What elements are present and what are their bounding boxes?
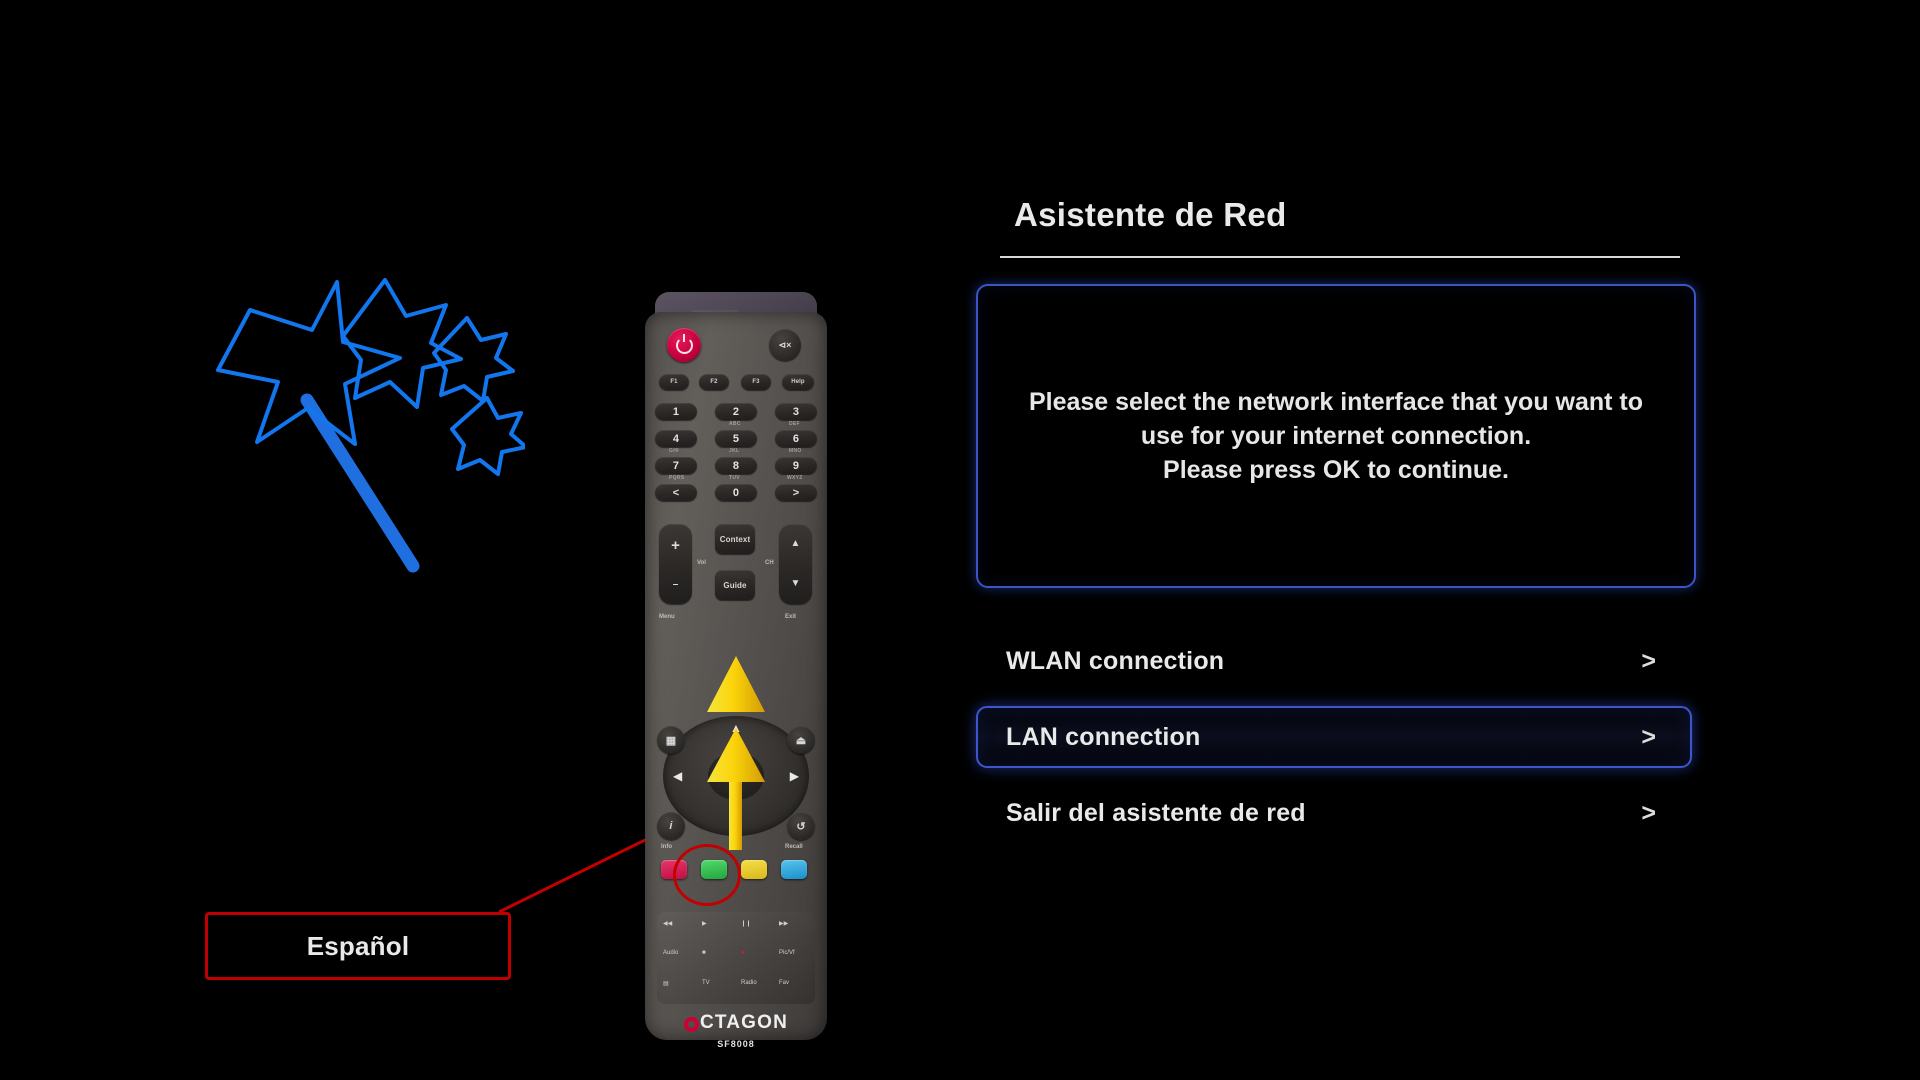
info-icon: i bbox=[669, 820, 672, 832]
remote-control-image: ⊲× F1 F2 F3 Help 1 2 3 ABC DEF bbox=[645, 292, 827, 1040]
remote-rewind-button: ◀◀ bbox=[663, 920, 696, 934]
info-label: Info bbox=[661, 844, 672, 850]
remote-key-0: 0 bbox=[715, 484, 757, 501]
tv-label: TV bbox=[702, 980, 710, 986]
volume-down-icon: – bbox=[673, 580, 679, 590]
remote-color-key-blue bbox=[781, 860, 807, 879]
info-line-1: Please select the network interface that… bbox=[1029, 385, 1643, 419]
context-label: Context bbox=[720, 535, 750, 544]
menu-item-wlan-connection[interactable]: WLAN connection > bbox=[976, 630, 1692, 692]
remote-key-8-sub: TUV bbox=[729, 475, 740, 481]
remote-color-key-red bbox=[661, 860, 687, 879]
remote-key-6-label: 6 bbox=[793, 433, 799, 445]
menu-item-exit-wizard[interactable]: Salir del asistente de red > bbox=[976, 782, 1692, 844]
octagon-logo-icon bbox=[684, 1017, 699, 1032]
menu-item-wlan-label: WLAN connection bbox=[1006, 647, 1224, 676]
remote-key-0-label: 0 bbox=[733, 487, 739, 499]
remote-key-1: 1 bbox=[655, 403, 697, 420]
remote-subtitle-button: ▤ bbox=[663, 980, 696, 994]
remote-key-f3-label: F3 bbox=[752, 379, 759, 385]
dpad-right-icon: ▶ bbox=[790, 770, 799, 782]
chevron-right-icon: > bbox=[1641, 723, 1656, 752]
exit-label: Exit bbox=[785, 614, 796, 620]
radio-label: Radio bbox=[741, 980, 757, 986]
remote-key-9-sub: WXYZ bbox=[787, 475, 803, 481]
remote-key-4: 4 bbox=[655, 430, 697, 447]
brand-text: CTAGON bbox=[700, 1012, 788, 1034]
remote-key-4-label: 4 bbox=[673, 433, 679, 445]
audio-label: Audio bbox=[663, 950, 678, 956]
remote-tv-button: TV bbox=[702, 980, 735, 994]
remote-key-1-label: 1 bbox=[673, 406, 679, 418]
record-icon: ● bbox=[741, 950, 745, 956]
remote-key-2-label: 2 bbox=[733, 406, 739, 418]
stop-icon: ■ bbox=[702, 950, 706, 956]
power-icon bbox=[676, 337, 693, 354]
remote-key-7-label: 7 bbox=[673, 460, 679, 472]
volume-up-icon: + bbox=[671, 538, 680, 553]
remote-radio-button: Radio bbox=[741, 980, 774, 994]
remote-key-5: 5 bbox=[715, 430, 757, 447]
remote-stop-button: ■ bbox=[702, 950, 735, 964]
remote-key-help-label: Help bbox=[791, 379, 804, 385]
magic-wand-icon bbox=[195, 258, 525, 588]
remote-key-9-label: 9 bbox=[793, 460, 799, 472]
dpad-down-icon: ▼ bbox=[730, 818, 742, 830]
remote-key-f2: F2 bbox=[699, 374, 729, 390]
remote-guide-button: Guide bbox=[715, 570, 755, 600]
tv-setup-screen: Español ⊲× F1 F2 F3 bbox=[0, 0, 1920, 1080]
language-callout-label: Español bbox=[307, 931, 410, 962]
remote-fav-button: Fav bbox=[779, 980, 812, 994]
pip-label: Pic/Vf bbox=[779, 950, 795, 956]
play-icon: ▶ bbox=[702, 921, 707, 927]
remote-pip-button: Pic/Vf bbox=[779, 950, 812, 964]
remote-power-button bbox=[667, 328, 701, 362]
channel-down-icon: ▼ bbox=[791, 579, 801, 589]
page-title: Asistente de Red bbox=[1014, 196, 1700, 234]
remote-volume-rocker: + – bbox=[659, 524, 692, 604]
remote-key-3: 3 bbox=[775, 403, 817, 420]
remote-key-5-sub: JKL bbox=[729, 448, 739, 454]
dpad-left-icon: ◀ bbox=[673, 770, 682, 782]
guide-label: Guide bbox=[723, 581, 746, 590]
remote-key-4-sub: GHI bbox=[669, 448, 679, 454]
remote-key-2-sub: ABC bbox=[729, 421, 741, 427]
info-line-3: Please press OK to continue. bbox=[1029, 453, 1643, 487]
remote-key-6: 6 bbox=[775, 430, 817, 447]
remote-key-help: Help bbox=[782, 374, 814, 390]
fav-label: Fav bbox=[779, 980, 789, 986]
channel-label: CH bbox=[765, 560, 774, 566]
remote-recall-button: ↺ bbox=[787, 812, 815, 840]
remote-color-key-yellow bbox=[741, 860, 767, 879]
remote-key-3-sub: DEF bbox=[789, 421, 800, 427]
recall-label: Recall bbox=[785, 844, 803, 850]
remote-key-next: > bbox=[775, 484, 817, 501]
remote-menu-button: ▦ bbox=[657, 726, 685, 754]
menu-item-exit-label: Salir del asistente de red bbox=[1006, 799, 1306, 828]
remote-branding: CTAGON SF8008 bbox=[645, 1012, 827, 1049]
remote-key-6-sub: MNO bbox=[789, 448, 802, 454]
remote-key-2: 2 bbox=[715, 403, 757, 420]
remote-key-7: 7 bbox=[655, 457, 697, 474]
remote-key-9: 9 bbox=[775, 457, 817, 474]
remote-key-prev-label: < bbox=[673, 487, 680, 499]
menu-item-lan-label: LAN connection bbox=[1006, 723, 1200, 752]
volume-label: Vol bbox=[697, 560, 706, 566]
remote-channel-rocker: ▲ ▼ bbox=[779, 524, 812, 604]
chevron-right-icon: > bbox=[1641, 799, 1656, 828]
remote-key-8: 8 bbox=[715, 457, 757, 474]
remote-ok-button bbox=[708, 752, 764, 800]
menu-icon: ▦ bbox=[666, 734, 677, 747]
recall-icon: ↺ bbox=[796, 820, 805, 833]
remote-key-5-label: 5 bbox=[733, 433, 739, 445]
remote-color-key-green bbox=[701, 860, 727, 879]
menu-label: Menu bbox=[659, 614, 675, 620]
remote-body: ⊲× F1 F2 F3 Help 1 2 3 ABC DEF bbox=[645, 312, 827, 1040]
remote-audio-button: Audio bbox=[663, 950, 696, 964]
network-wizard-panel: Asistente de Red Please select the netwo… bbox=[1000, 196, 1700, 858]
language-callout-box: Español bbox=[205, 912, 511, 980]
remote-key-next-label: > bbox=[793, 487, 800, 499]
remote-mute-button: ⊲× bbox=[769, 329, 801, 361]
brand-name: CTAGON bbox=[684, 1012, 788, 1034]
remote-info-button: i bbox=[657, 812, 685, 840]
remote-key-3-label: 3 bbox=[793, 406, 799, 418]
info-message-box: Please select the network interface that… bbox=[976, 284, 1696, 588]
brand-model: SF8008 bbox=[645, 1039, 827, 1049]
remote-key-prev: < bbox=[655, 484, 697, 501]
remote-key-8-label: 8 bbox=[733, 460, 739, 472]
remote-exit-button: ⏏ bbox=[787, 726, 815, 754]
channel-up-icon: ▲ bbox=[791, 539, 801, 549]
remote-key-7-sub: PQRS bbox=[669, 475, 684, 481]
exit-icon: ⏏ bbox=[796, 734, 807, 747]
subtitle-icon: ▤ bbox=[663, 981, 669, 987]
remote-record-button: ● bbox=[741, 950, 774, 964]
remote-key-f1: F1 bbox=[659, 374, 689, 390]
network-interface-menu: WLAN connection > LAN connection > Salir… bbox=[976, 630, 1692, 844]
remote-media-panel: ◀◀ ▶ ❙❙ ▶▶ Audio ■ ● Pic/Vf ▤ bbox=[657, 912, 815, 1004]
remote-key-f3: F3 bbox=[741, 374, 771, 390]
remote-play-button: ▶ bbox=[702, 920, 735, 934]
menu-item-lan-connection[interactable]: LAN connection > bbox=[976, 706, 1692, 768]
pause-icon: ❙❙ bbox=[741, 921, 751, 927]
title-divider bbox=[1000, 256, 1680, 258]
remote-key-f2-label: F2 bbox=[710, 379, 717, 385]
fast-forward-icon: ▶▶ bbox=[779, 921, 788, 927]
rewind-icon: ◀◀ bbox=[663, 921, 672, 927]
info-message-text: Please select the network interface that… bbox=[1005, 385, 1667, 487]
remote-context-button: Context bbox=[715, 524, 755, 554]
remote-pause-button: ❙❙ bbox=[741, 920, 774, 934]
mute-icon: ⊲× bbox=[779, 340, 792, 351]
remote-forward-button: ▶▶ bbox=[779, 920, 812, 934]
chevron-right-icon: > bbox=[1641, 647, 1656, 676]
remote-key-f1-label: F1 bbox=[670, 379, 677, 385]
dpad-up-icon: ▲ bbox=[730, 722, 742, 734]
info-line-2: use for your internet connection. bbox=[1029, 419, 1643, 453]
